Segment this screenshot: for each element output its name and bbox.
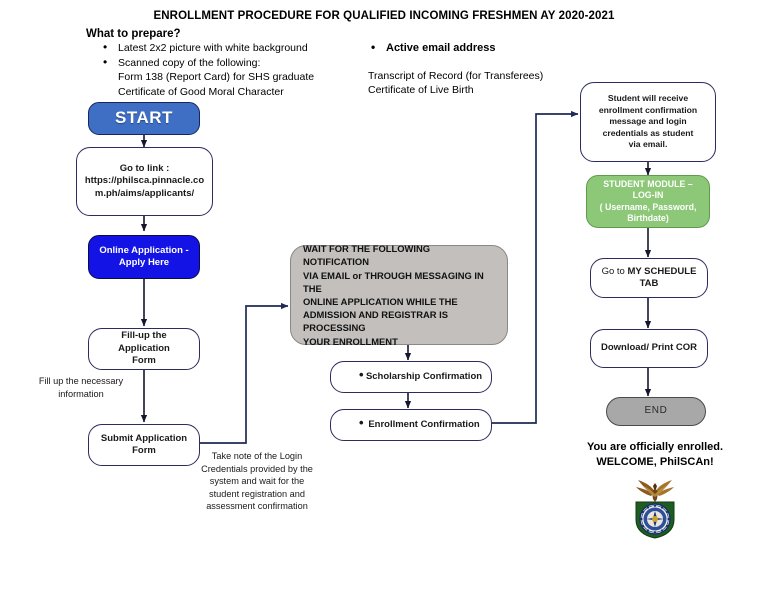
submit-line-2: Form	[132, 445, 156, 456]
node-fill-up-form[interactable]: Fill-up the Application Form	[88, 328, 200, 370]
list-item: Latest 2x2 picture with white background	[100, 41, 360, 56]
link-line-1: Go to link :	[120, 163, 170, 174]
receive-line-3: message and login	[609, 116, 686, 126]
node-my-schedule-tab[interactable]: Go to MY SCHEDULE TAB	[590, 258, 708, 298]
node-wait-notification-label: WAIT FOR THE FOLLOWING NOTIFICATION VIA …	[303, 242, 495, 348]
wait-line-2-bold: VIA EMAIL	[303, 270, 350, 281]
take-note-line-5: assessment confirmation	[206, 501, 308, 511]
prepare-heading: What to prepare?	[86, 28, 181, 40]
wait-line-5: YOUR ENROLLMENT	[303, 336, 398, 347]
closing-message: You are officially enrolled. WELCOME, Ph…	[560, 440, 750, 470]
list-item: Certificate of Live Birth	[368, 83, 598, 98]
schedule-line-2: TAB	[640, 278, 659, 289]
list-item: Form 138 (Report Card) for SHS graduate	[100, 70, 360, 85]
spacer	[368, 56, 598, 69]
eagle-icon	[636, 480, 674, 502]
fillup-line-2: Form	[132, 355, 156, 366]
node-submit-form[interactable]: Submit Application Form	[88, 424, 200, 466]
module-line-3: ( Username, Password,	[600, 202, 697, 212]
apply-line-2: Apply Here	[119, 257, 169, 268]
take-note-line-2: Credentials provided by the	[201, 464, 313, 474]
list-item: Certificate of Good Moral Character	[100, 85, 360, 100]
node-enrollment-confirmation-label: Enrollment Confirmation	[337, 419, 485, 432]
take-note-line-1: Take note of the Login	[212, 451, 302, 461]
node-fill-up-form-label: Fill-up the Application Form	[95, 330, 193, 368]
node-student-receives-email[interactable]: Student will receive enrollment confirma…	[580, 82, 716, 162]
fill-info-line-1: Fill up the necessary	[39, 376, 123, 386]
link-line-2: https://philsca.pinnacle.co	[85, 175, 204, 186]
node-go-to-link-label: Go to link : https://philsca.pinnacle.co…	[83, 163, 206, 201]
module-line-2: LOG-IN	[633, 190, 664, 200]
module-line-1: STUDENT MODULE –	[603, 179, 692, 189]
list-item: Transcript of Record (for Transferees)	[368, 69, 598, 84]
link-line-3: m.ph/aims/applicants/	[95, 188, 194, 199]
node-student-module-login[interactable]: STUDENT MODULE – LOG-IN ( Username, Pass…	[586, 175, 710, 228]
node-submit-form-label: Submit Application Form	[95, 433, 193, 458]
node-scholarship-confirmation-label: Scholarship Confirmation	[337, 371, 485, 384]
shield-icon	[636, 502, 674, 538]
schedule-line-1-bold: MY SCHEDULE	[627, 266, 696, 277]
wait-line-1-bold2: NOTIFICATION	[303, 256, 369, 267]
closing-line-2: WELCOME, PhilSCAn!	[596, 456, 713, 468]
node-wait-notification[interactable]: WAIT FOR THE FOLLOWING NOTIFICATION VIA …	[290, 245, 508, 345]
receive-line-2: enrollment confirmation	[599, 105, 697, 115]
wait-line-1-rest: THE FOLLOWING	[349, 243, 430, 254]
wait-line-4: ADMISSION AND REGISTRAR IS PROCESSING	[303, 309, 448, 333]
wait-line-3: ONLINE APPLICATION WHILE THE	[303, 296, 458, 307]
node-go-to-link[interactable]: Go to link : https://philsca.pinnacle.co…	[76, 147, 213, 216]
node-enrollment-confirmation[interactable]: Enrollment Confirmation	[330, 409, 492, 441]
closing-line-1: You are officially enrolled.	[587, 441, 723, 453]
node-end-label: END	[613, 405, 699, 418]
flowchart-page: ENROLLMENT PROCEDURE FOR QUALIFIED INCOM…	[0, 0, 768, 594]
node-start[interactable]: START	[88, 102, 200, 135]
node-download-print-cor-label: Download/ Print COR	[597, 342, 701, 355]
receive-line-4: credentials as student	[603, 128, 694, 138]
node-online-application-label: Online Application - Apply Here	[95, 245, 193, 270]
schedule-line-1-plain: Go to	[602, 266, 628, 277]
node-start-label: START	[95, 112, 193, 125]
node-download-print-cor[interactable]: Download/ Print COR	[590, 329, 708, 368]
node-scholarship-confirmation[interactable]: Scholarship Confirmation	[330, 361, 492, 393]
module-line-4: Birthdate)	[627, 213, 669, 223]
prepare-left-list: Latest 2x2 picture with white background…	[100, 41, 360, 99]
list-item: Scanned copy of the following:	[100, 56, 360, 71]
submit-line-1: Submit Application	[101, 433, 187, 444]
receive-line-1: Student will receive	[608, 93, 688, 103]
philsca-seal-logo-icon	[622, 474, 688, 540]
caption-take-note: Take note of the Login Credentials provi…	[196, 450, 318, 513]
wait-line-2-rest: or	[350, 270, 365, 281]
node-student-module-login-label: STUDENT MODULE – LOG-IN ( Username, Pass…	[593, 179, 703, 225]
caption-fill-info: Fill up the necessary information	[16, 375, 146, 400]
apply-line-1: Online Application -	[99, 245, 188, 256]
fillup-line-1: Fill-up the Application	[118, 330, 170, 354]
take-note-line-3: system and wait for the	[210, 476, 304, 486]
fill-info-line-2: information	[58, 389, 103, 399]
page-title: ENROLLMENT PROCEDURE FOR QUALIFIED INCOM…	[0, 10, 768, 22]
prepare-right-list: Active email address Transcript of Recor…	[368, 41, 598, 98]
node-my-schedule-tab-label: Go to MY SCHEDULE TAB	[597, 266, 701, 291]
node-online-application[interactable]: Online Application - Apply Here	[88, 235, 200, 279]
take-note-line-4: student registration and	[209, 489, 305, 499]
receive-line-5: via email.	[629, 139, 668, 149]
node-student-receives-email-label: Student will receive enrollment confirma…	[587, 93, 709, 151]
wait-line-1-bold: WAIT FOR	[303, 243, 349, 254]
node-end[interactable]: END	[606, 397, 706, 426]
list-item: Active email address	[368, 41, 598, 56]
